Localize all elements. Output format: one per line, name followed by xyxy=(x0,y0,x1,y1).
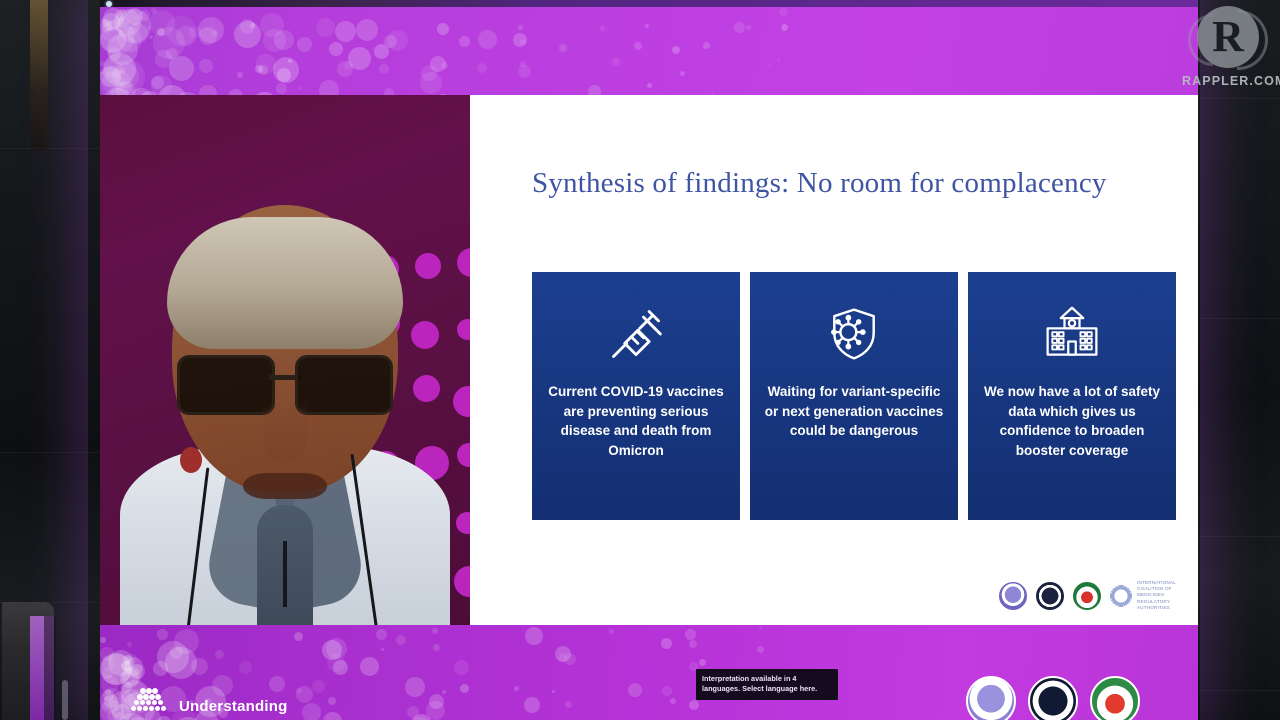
auditorium-left-wall xyxy=(0,0,100,720)
brand-dots-icon xyxy=(128,688,170,714)
wall-seam xyxy=(1198,318,1280,319)
wall-seam xyxy=(0,148,100,149)
head xyxy=(172,205,398,493)
shield-virus-icon xyxy=(824,286,884,382)
webinar-brand: Understanding xyxy=(128,688,287,714)
language-note: Interpretation available in 4 languages.… xyxy=(696,669,838,700)
slide-footer-logos: INTERNATIONAL COALITION OF MEDICINES REG… xyxy=(999,580,1176,611)
speaker-video-tile[interactable] xyxy=(100,95,470,625)
syringe-icon xyxy=(606,286,666,382)
auditorium-right-wall xyxy=(1198,0,1280,720)
rappler-watermark: R RAPPLER.COM xyxy=(1182,6,1274,94)
language-note-line-1: Interpretation available in 4 xyxy=(702,674,832,685)
who-globe-logo xyxy=(966,676,1016,720)
coalition-logo-text: INTERNATIONAL COALITION OF MEDICINES REG… xyxy=(1137,580,1176,611)
hospital-building-icon xyxy=(1042,286,1102,382)
banner-logos xyxy=(966,676,1140,720)
wall-seam xyxy=(1198,98,1280,99)
projection-screen: Synthesis of findings: No room for compl… xyxy=(100,0,1198,720)
microphone-stand xyxy=(62,680,68,720)
cross-emblem-logo xyxy=(1036,582,1064,610)
finding-card: Waiting for variant-specific or next gen… xyxy=(750,272,958,520)
cross-emblem-logo xyxy=(1028,676,1078,720)
wall-seam xyxy=(0,452,100,453)
rappler-watermark-text: RAPPLER.COM xyxy=(1182,74,1274,88)
lectern-edge xyxy=(44,616,56,720)
conference-stage-photo: Synthesis of findings: No room for compl… xyxy=(0,0,1280,720)
rappler-logo-letter: R xyxy=(1212,15,1244,59)
coalition-mark-icon xyxy=(1110,585,1132,607)
app-window-chrome xyxy=(100,0,1198,7)
brand-name: Understanding xyxy=(179,699,287,714)
hair xyxy=(167,217,403,349)
bokeh-dot-pattern xyxy=(100,7,1198,95)
lens-left xyxy=(177,355,275,415)
rappler-logo-icon: R xyxy=(1197,6,1259,68)
finding-card-text: Current COVID-19 vaccines are preventing… xyxy=(532,382,740,460)
wood-pillar xyxy=(30,0,48,150)
wall-seam xyxy=(1198,690,1280,691)
findings-card-row: Current COVID-19 vaccines are preventing… xyxy=(532,272,1176,520)
presentation-slide: Synthesis of findings: No room for compl… xyxy=(470,95,1198,625)
lens-right xyxy=(295,355,393,415)
globe-emblem-logo xyxy=(999,582,1027,610)
speaker-figure xyxy=(120,185,450,625)
slide-title: Synthesis of findings: No room for compl… xyxy=(532,167,1107,200)
earphone-cable-join xyxy=(283,541,287,607)
top-brand-band xyxy=(100,7,1198,95)
lungs-emblem-logo xyxy=(1090,676,1140,720)
finding-card: We now have a lot of safety data which g… xyxy=(968,272,1176,520)
earphone-icon xyxy=(180,447,202,473)
language-note-line-2: languages. Select language here. xyxy=(702,684,832,695)
wall-seam xyxy=(1198,536,1280,537)
finding-card: Current COVID-19 vaccines are preventing… xyxy=(532,272,740,520)
mouth xyxy=(243,473,327,499)
shared-content-area: Synthesis of findings: No room for compl… xyxy=(100,95,1198,625)
finding-card-text: Waiting for variant-specific or next gen… xyxy=(750,382,958,441)
nose xyxy=(263,401,307,463)
finding-card-text: We now have a lot of safety data which g… xyxy=(968,382,1176,460)
lungs-emblem-logo xyxy=(1073,582,1101,610)
bottom-brand-band: Understanding Interpretation available i… xyxy=(100,625,1198,720)
coalition-logo: INTERNATIONAL COALITION OF MEDICINES REG… xyxy=(1110,580,1176,611)
